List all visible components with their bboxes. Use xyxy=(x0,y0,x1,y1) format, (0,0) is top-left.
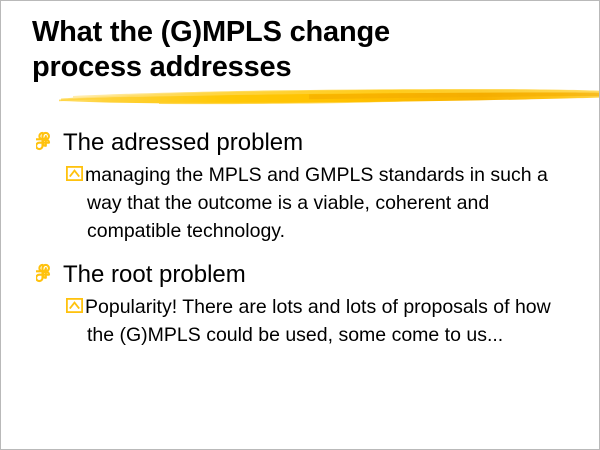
slide-body: The adressed problem managing the MPLS a… xyxy=(1,127,600,355)
bullet-level1: The root problem xyxy=(1,259,600,290)
bullet-level2: Popularity! There are lots and lots of p… xyxy=(1,293,557,349)
chevron-up-box-icon xyxy=(66,298,83,313)
bullet-level1-text: The root problem xyxy=(63,261,246,288)
bullet-level2-text: Popularity! There are lots and lots of p… xyxy=(87,293,557,349)
bullet-level1-text: The adressed problem xyxy=(63,129,303,156)
brush-stroke-divider-icon xyxy=(59,83,600,109)
bullet-level2: managing the MPLS and GMPLS standards in… xyxy=(1,161,557,245)
bullet-level1: The adressed problem xyxy=(1,127,600,158)
command-loop-icon xyxy=(36,262,60,286)
presentation-slide: What the (G)MPLS change process addresse… xyxy=(0,0,600,450)
slide-title: What the (G)MPLS change process addresse… xyxy=(32,15,572,85)
chevron-up-box-icon xyxy=(66,166,83,181)
bullet-level2-text: managing the MPLS and GMPLS standards in… xyxy=(87,161,557,245)
command-loop-icon xyxy=(36,130,60,154)
title-line-2: process addresses xyxy=(32,50,572,85)
spacer xyxy=(1,251,600,259)
title-line-1: What the (G)MPLS change xyxy=(32,15,572,50)
